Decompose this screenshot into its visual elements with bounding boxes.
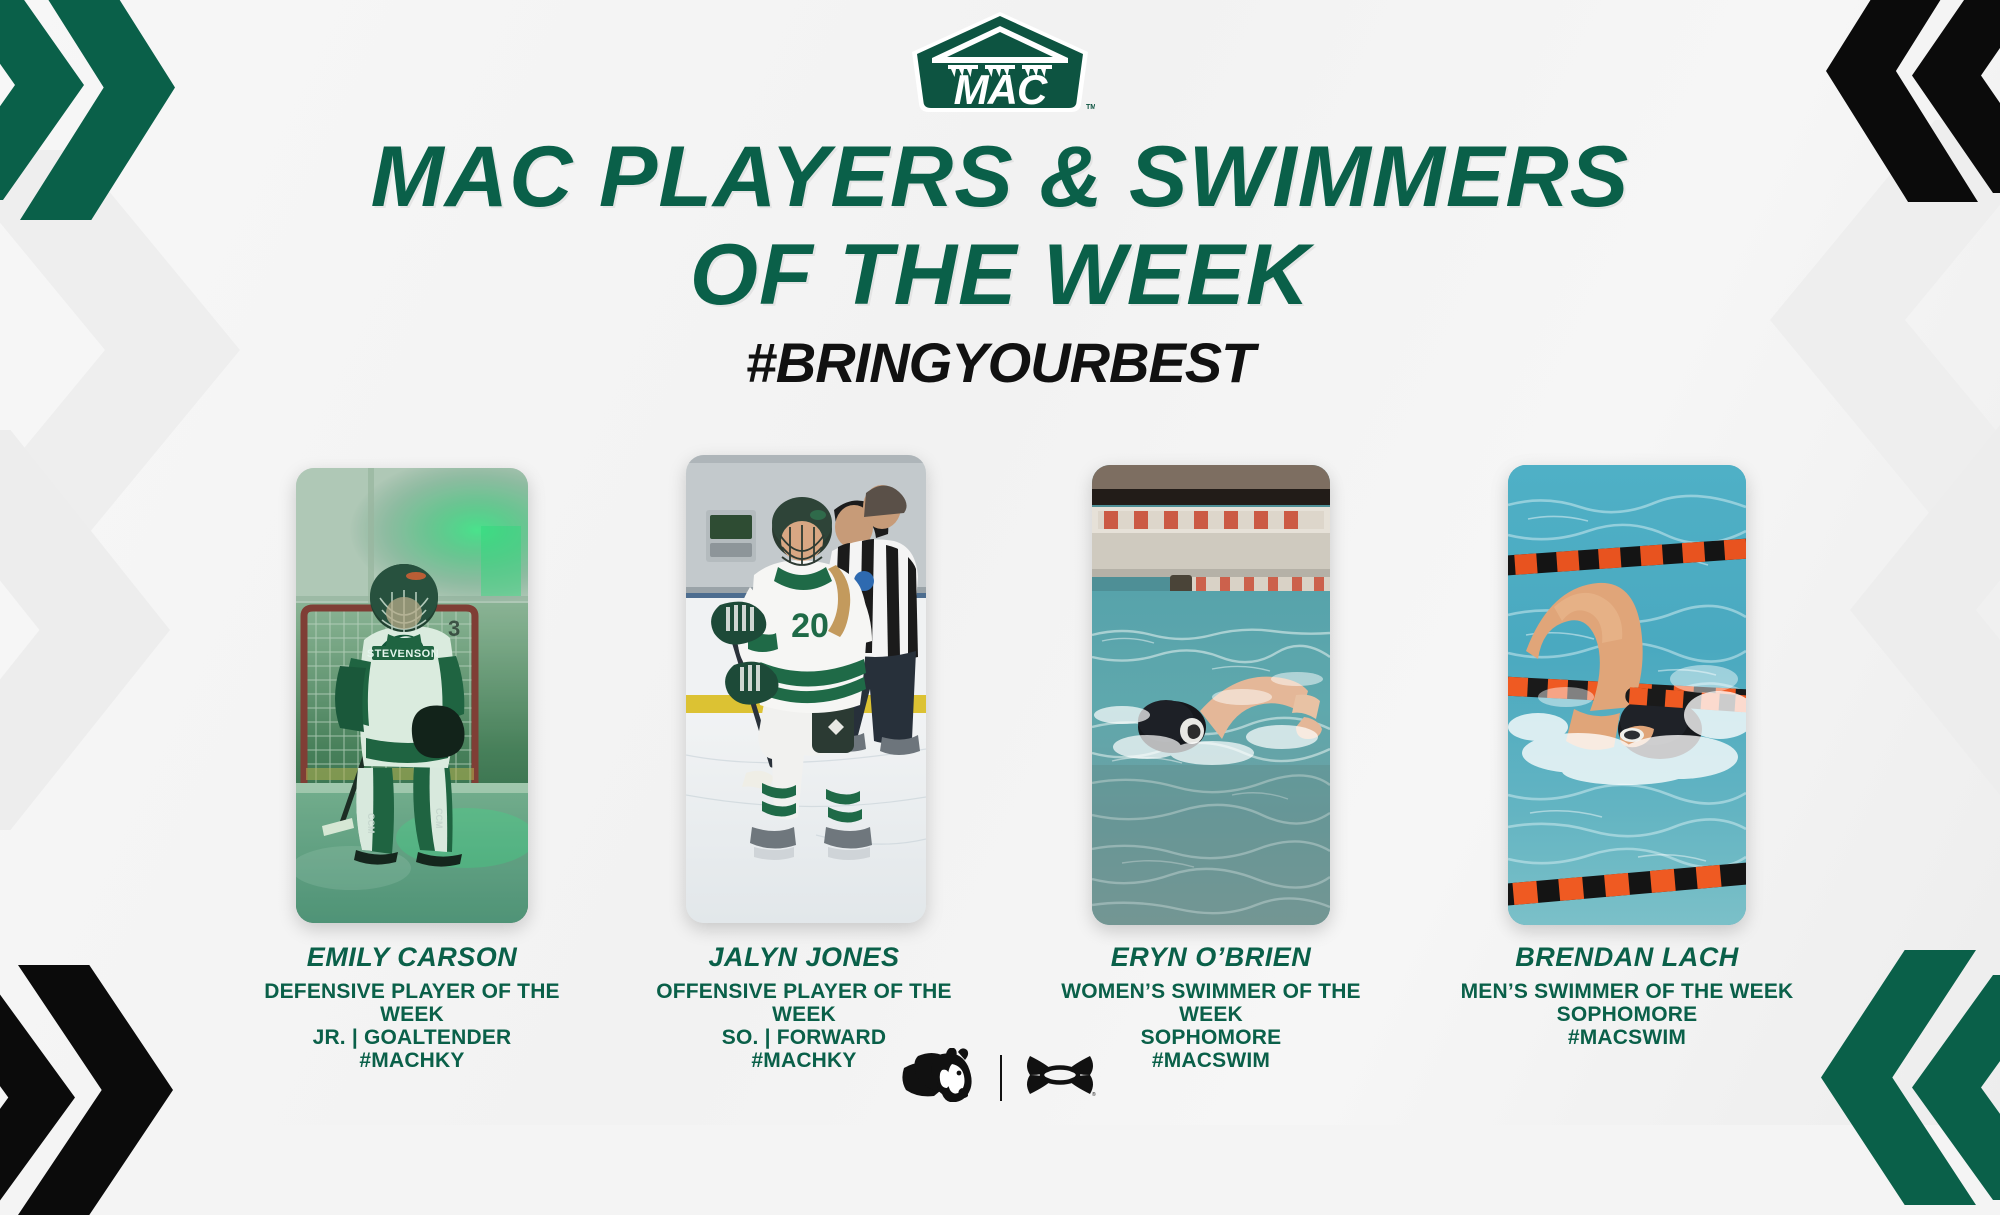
photo-female-swimmer [1092, 465, 1330, 925]
honoree-name: ERYN O’BRIEN [1041, 940, 1381, 974]
svg-text:MAC: MAC [954, 66, 1048, 113]
honoree-name: EMILY CARSON [242, 940, 582, 974]
honoree-class-position: SO. | FORWARD [634, 1026, 974, 1049]
honoree-photo-card-1[interactable]: CCM CCM [296, 468, 528, 923]
photo-male-swimmer [1508, 465, 1746, 925]
honoree-class-position: SOPHOMORE [1041, 1026, 1381, 1049]
honoree-name: JALYN JONES [634, 940, 974, 974]
mac-logo: MAC TM [905, 8, 1095, 116]
svg-text:®: ® [1092, 1091, 1096, 1098]
title-line-1: MAC PLAYERS & SWIMMERS [0, 128, 2000, 226]
honoree-caption-4: BRENDAN LACH MEN’S SWIMMER OF THE WEEK S… [1457, 940, 1797, 1049]
trademark-symbol: TM [1086, 104, 1095, 111]
svg-text:20: 20 [791, 607, 829, 645]
footer-logo-row: ® [902, 1048, 1098, 1107]
photo-hockey-goalie: CCM CCM [296, 468, 528, 923]
honoree-caption-1: EMILY CARSON DEFENSIVE PLAYER OF THE WEE… [242, 940, 582, 1072]
honoree-hashtag: #MACHKY [242, 1049, 582, 1072]
logo-divider [1000, 1055, 1002, 1101]
title-line-2: OF THE WEEK [0, 226, 2000, 324]
page-title: MAC PLAYERS & SWIMMERS OF THE WEEK [0, 128, 2000, 324]
honoree-photo-card-3[interactable] [1092, 465, 1330, 925]
under-armour-icon: ® [1022, 1048, 1098, 1107]
honoree-class-position: SOPHOMORE [1457, 1003, 1797, 1026]
honoree-award: OFFENSIVE PLAYER OF THE WEEK [634, 980, 974, 1026]
honoree-name: BRENDAN LACH [1457, 940, 1797, 974]
honoree-award: MEN’S SWIMMER OF THE WEEK [1457, 980, 1797, 1003]
honoree-hashtag: #MACSWIM [1457, 1026, 1797, 1049]
mustang-head-icon [902, 1048, 980, 1107]
honoree-photo-card-4[interactable] [1508, 465, 1746, 925]
campaign-hashtag: #BRINGYOURBEST [0, 330, 2000, 396]
honoree-card-row: CCM CCM [0, 455, 2000, 935]
honoree-award: DEFENSIVE PLAYER OF THE WEEK [242, 980, 582, 1026]
honoree-award: WOMEN’S SWIMMER OF THE WEEK [1041, 980, 1381, 1026]
honoree-photo-card-2[interactable]: 20 [686, 455, 926, 923]
honoree-class-position: JR. | GOALTENDER [242, 1026, 582, 1049]
photo-hockey-forward: 20 [686, 455, 926, 923]
